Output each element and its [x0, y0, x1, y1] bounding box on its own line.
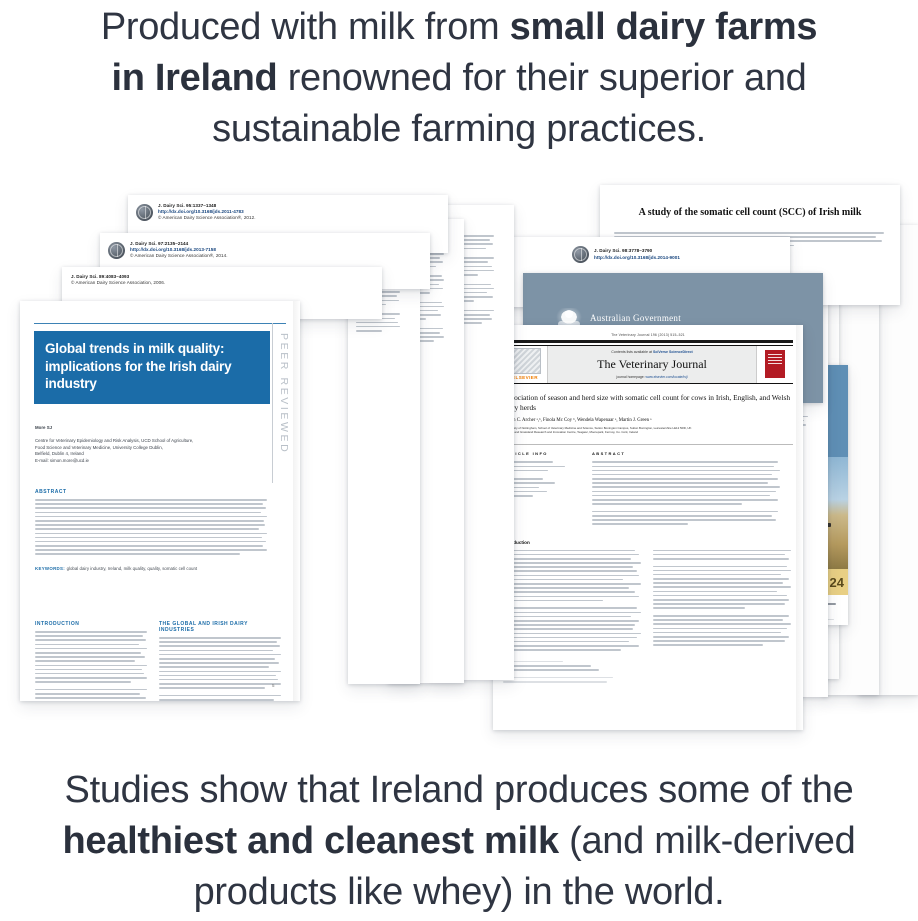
australian-government-label: Australian Government [590, 313, 681, 323]
headline-bottom-line-3: products like whey) in the world. [0, 867, 918, 918]
scc-study-title: A study of the somatic cell count (SCC) … [612, 207, 888, 218]
headline-bottom-line-2-plain: (and milk-derived [559, 820, 856, 862]
jds-article-sheet: Global trends in milk quality: implicati… [20, 301, 300, 701]
jds-author-block: More SJ Centre for Veterinary Epidemiolo… [35, 425, 250, 464]
jds-keywords: KEYWORDS: global dairy industry, Ireland… [35, 566, 267, 571]
paper-collage: he RY 24 re [0, 185, 918, 730]
jds-columns: INTRODUCTION [35, 621, 285, 701]
cover-year: 24 [830, 575, 844, 590]
jds-article-title: Global trends in milk quality: implicati… [34, 331, 270, 404]
promo-page: Produced with milk from small dairy farm… [0, 0, 918, 921]
jds-author-name: More SJ [35, 425, 250, 431]
citation-block-4: J. Dairy Sci. 98:3778–3790 http://dx.doi… [572, 246, 790, 263]
jds-abstract-section: ABSTRACT KEYWORDS: global dairy industry… [35, 489, 267, 571]
citation-assoc: © American Dairy Science Association®, 2… [158, 215, 256, 221]
vet-article-info-heading: ARTICLE INFO [503, 451, 581, 456]
jds-article-body: Global trends in milk quality: implicati… [20, 301, 300, 701]
citation-block-1: J. Dairy Sci. 95:1337–1348 http://dx.doi… [136, 203, 448, 222]
jds-column-left: INTRODUCTION [35, 621, 147, 701]
jds-page-number: 5 [272, 683, 275, 688]
citation-doi: http://dx.doi.org/10.3168/jds.2014-9001 [594, 255, 680, 261]
jds-abstract-heading: ABSTRACT [35, 489, 267, 495]
vet-journal-cover-thumb [756, 346, 793, 383]
vet-cover-image [765, 350, 785, 378]
citation-block-3: J. Dairy Sci. 89:4083–4093 © American Da… [71, 274, 382, 286]
page-title-top: Produced with milk from small dairy farm… [0, 2, 918, 155]
vet-contents-text: Contents lists available at [611, 350, 653, 354]
jds-column-right: THE GLOBAL AND IRISH DAIRY INDUSTRIES [159, 621, 281, 701]
jds-keywords-value: global dairy industry, Ireland, milk qua… [67, 566, 198, 571]
vet-top-rule [503, 340, 793, 343]
jds-section-intro: INTRODUCTION [35, 621, 147, 627]
vet-intro-heading: Introduction [503, 540, 642, 545]
vet-homepage-line: journal homepage: www.elsevier.com/locat… [616, 375, 687, 379]
vet-article-title: Association of season and herd size with… [503, 393, 793, 413]
sheet-edge-shadow [796, 325, 803, 730]
vet-homepage-link[interactable]: www.elsevier.com/locate/tvjl [646, 375, 688, 379]
headline-top-line-1-plain: Produced with milk from [101, 6, 510, 48]
vet-journal-name: The Veterinary Journal [597, 357, 707, 372]
headline-top-line-1-bold: small dairy farms [510, 6, 818, 48]
citation-block-2: J. Dairy Sci. 97:2135–2144 http://dx.doi… [108, 241, 430, 260]
sheet-edge-shadow [293, 301, 300, 701]
headline-top-line-2: in Ireland renowned for their superior a… [0, 53, 918, 104]
vet-abstract-heading: ABSTRACT [592, 451, 793, 456]
headline-bottom-line-2-bold: healthiest and cleanest milk [63, 820, 559, 862]
jds-email: E-mail: simon.more@ucd.ie [35, 458, 250, 464]
vet-contents-line: Contents lists available at SciVerse Sci… [611, 350, 693, 354]
jds-keywords-label: KEYWORDS: [35, 566, 65, 571]
headline-bottom-line-1: Studies show that Ireland produces some … [0, 765, 918, 816]
jds-peer-reviewed-badge: PEER REVIEWED [278, 333, 290, 454]
headline-top-line-3: sustainable farming practices. [0, 104, 918, 155]
ads-globe-icon [108, 242, 125, 259]
jds-side-rule [272, 323, 273, 483]
vet-homepage-label: journal homepage: [616, 375, 645, 379]
veterinary-journal-sheet: The Veterinary Journal 196 (2013) 515–52… [493, 325, 803, 730]
jds-top-rule [34, 323, 286, 324]
citation-assoc: © American Dairy Science Association, 20… [71, 280, 382, 286]
vet-journal-masthead: ELSEVIER Contents lists available at Sci… [503, 345, 793, 384]
vet-affiliation-b: ᵇ Animal and Grassland Research and Inno… [503, 430, 793, 434]
headline-top-line-1: Produced with milk from small dairy farm… [0, 2, 918, 53]
jds-section-industries: THE GLOBAL AND IRISH DAIRY INDUSTRIES [159, 621, 281, 633]
page-title-bottom: Studies show that Ireland produces some … [0, 765, 918, 918]
vet-masthead-center: Contents lists available at SciVerse Sci… [548, 346, 756, 383]
vet-article-authors: Simon C. Archer ᵃ,ᵇ, Finola Mc Coy ᵇ, We… [503, 418, 793, 423]
sciencedirect-link[interactable]: SciVerse ScienceDirect [653, 350, 693, 354]
headline-top-line-2-plain: renowned for their superior and [277, 57, 806, 99]
elsevier-wordmark: ELSEVIER [512, 375, 538, 380]
ads-globe-icon [572, 246, 589, 263]
ads-globe-icon [136, 204, 153, 221]
headline-top-line-2-bold: in Ireland [112, 57, 278, 99]
vet-running-head: The Veterinary Journal 196 (2013) 515–52… [503, 333, 793, 337]
citation-assoc: © American Dairy Science Association®, 2… [130, 253, 228, 259]
headline-bottom-line-2: healthiest and cleanest milk (and milk-d… [0, 816, 918, 867]
